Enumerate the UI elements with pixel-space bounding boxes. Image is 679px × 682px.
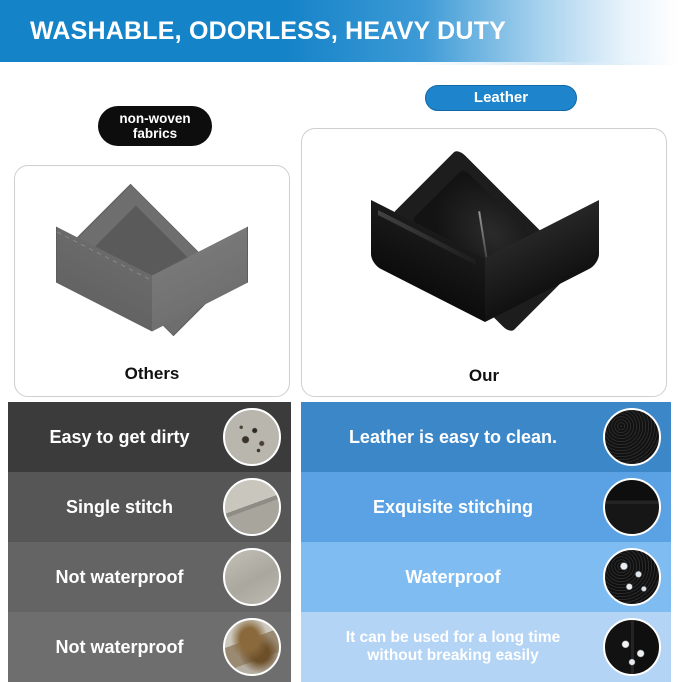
product-image-others [15, 166, 289, 362]
badge-left-line2: fabrics [119, 126, 190, 141]
wet-fabric-icon [223, 548, 281, 606]
table-row: It can be used for a long time without b… [301, 612, 671, 682]
product-card-our: Our [301, 128, 667, 397]
table-row: Waterproof [301, 542, 671, 612]
product-image-our [302, 129, 666, 362]
comparison-column-our: Leather is easy to clean. Exquisite stit… [301, 402, 671, 682]
durable-leather-box-icon [603, 618, 661, 676]
single-stitch-seam-icon [223, 478, 281, 536]
table-row: Not waterproof [8, 612, 291, 682]
table-row: Exquisite stitching [301, 472, 671, 542]
comparison-column-others: Easy to get dirty Single stitch Not wate… [8, 402, 291, 682]
water-droplets-on-leather-icon [603, 548, 661, 606]
table-row: Single stitch [8, 472, 291, 542]
row-label-line1: It can be used for a long time [305, 629, 601, 647]
badge-left-line1: non-woven [119, 111, 190, 126]
infographic-page: WASHABLE, ODORLESS, HEAVY DUTY non-woven… [0, 0, 679, 682]
gray-fabric-bin-illustration [45, 189, 259, 339]
header-banner: WASHABLE, ODORLESS, HEAVY DUTY [0, 0, 679, 62]
clean-leather-grain-icon [603, 408, 661, 466]
product-card-others: Others [14, 165, 290, 397]
product-caption-our: Our [302, 366, 666, 386]
comparison-table: Easy to get dirty Single stitch Not wate… [0, 402, 679, 682]
dirty-fabric-stain-icon [223, 408, 281, 466]
row-label-line2: without breaking easily [305, 647, 601, 665]
table-row: Leather is easy to clean. [301, 402, 671, 472]
table-row: Easy to get dirty [8, 402, 291, 472]
leather-corner-stitching-icon [603, 478, 661, 536]
mold-stained-fabric-icon [223, 618, 281, 676]
product-caption-others: Others [15, 364, 289, 384]
header-divider [0, 62, 679, 65]
page-title: WASHABLE, ODORLESS, HEAVY DUTY [0, 17, 506, 46]
black-leather-box-illustration [356, 155, 612, 337]
table-row: Not waterproof [8, 542, 291, 612]
badge-leather: Leather [425, 85, 577, 111]
badge-non-woven-fabrics: non-woven fabrics [98, 106, 212, 146]
